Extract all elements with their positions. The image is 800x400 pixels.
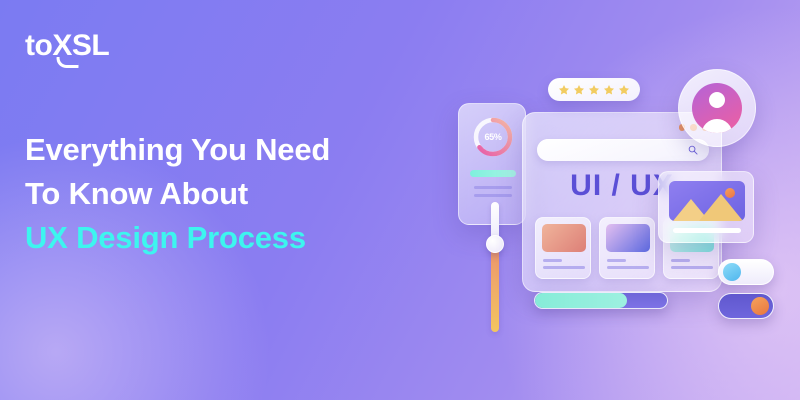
progress-bar-fill	[535, 293, 627, 308]
vertical-slider[interactable]	[491, 202, 499, 332]
thumbnail-image	[542, 224, 586, 252]
headline-line-2: To Know About	[25, 172, 445, 216]
star-icon	[618, 84, 630, 96]
headline-block: Everything You Need To Know About UX Des…	[25, 128, 445, 260]
brand-logo[interactable]: toXSL	[25, 31, 109, 61]
slider-handle[interactable]	[486, 235, 504, 253]
headline-line-1: Everything You Need	[25, 128, 445, 172]
thumbnail-text-line	[671, 266, 713, 269]
avatar-head-shape	[709, 92, 725, 108]
search-input[interactable]	[537, 139, 709, 161]
logo-text-to: to	[25, 31, 52, 61]
star-icon	[558, 84, 570, 96]
star-icon	[588, 84, 600, 96]
illustration: 65% UI / UX	[430, 0, 800, 400]
thumbnail-orange[interactable]	[535, 217, 591, 279]
donut-chart: 65%	[471, 115, 515, 159]
image-caption-bar	[673, 228, 741, 233]
star-icon	[573, 84, 585, 96]
thumbnail-image	[606, 224, 650, 252]
stats-progress-bar	[470, 170, 516, 177]
thumbnail-text-line	[607, 259, 626, 262]
toggle-off[interactable]	[718, 259, 774, 285]
search-icon	[688, 145, 698, 155]
thumbnail-text-line	[607, 266, 649, 269]
star-icon	[603, 84, 615, 96]
donut-percent-label: 65%	[471, 115, 515, 159]
logo-x-swash	[56, 57, 80, 68]
progress-bar[interactable]	[534, 292, 668, 309]
thumbnail-text-line	[671, 259, 690, 262]
thumbnail-text-line	[543, 259, 562, 262]
toggle-on[interactable]	[718, 293, 774, 319]
rating-stars[interactable]	[548, 78, 640, 101]
banner-root: toXSL Everything You Need To Know About …	[0, 0, 800, 400]
stats-text-line	[474, 194, 512, 197]
thumbnail-text-line	[543, 266, 585, 269]
mountain-shape	[699, 194, 743, 221]
stats-text-line	[474, 186, 512, 189]
thumbnail-purple[interactable]	[599, 217, 655, 279]
logo-letter-x: X	[52, 31, 72, 61]
toggle-knob	[751, 297, 769, 315]
avatar[interactable]	[678, 69, 756, 147]
avatar-body-shape	[702, 119, 733, 133]
avatar-icon	[692, 83, 742, 133]
toggle-knob	[723, 263, 741, 281]
headline-line-3-accent: UX Design Process	[25, 216, 445, 260]
image-widget-card	[658, 171, 754, 243]
image-placeholder-icon	[669, 181, 745, 221]
